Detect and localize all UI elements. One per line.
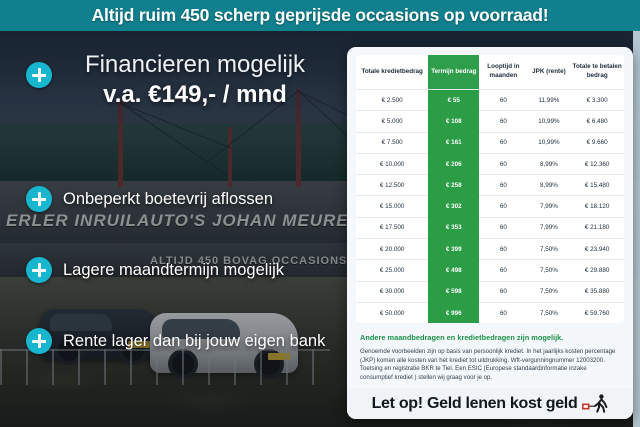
cell-krediet: € 20.000 (356, 239, 428, 260)
header-termijn: Termijn bedrag (428, 55, 479, 90)
cell-krediet: € 15.000 (356, 196, 428, 217)
cell-totaal: € 23.940 (570, 239, 624, 260)
table-row: € 50.000€ 996607,50%€ 59.760 (356, 302, 624, 323)
left-content-column: Financieren mogelijk v.a. €149,- / mnd O… (0, 31, 345, 427)
cell-jkp: 7,50% (528, 302, 571, 323)
cell-termijn: € 258 (428, 175, 479, 196)
cell-termijn: € 598 (428, 281, 479, 302)
cell-totaal: € 3.300 (570, 90, 624, 111)
cell-krediet: € 30.000 (356, 281, 428, 302)
cell-krediet: € 50.000 (356, 302, 428, 323)
cell-looptijd: 60 (479, 132, 527, 153)
cell-totaal: € 15.480 (570, 175, 624, 196)
cell-termijn: € 206 (428, 153, 479, 174)
cell-jkp: 7,99% (528, 196, 571, 217)
disclaimer-title: Andere maandbedragen en kredietbedragen … (360, 333, 620, 343)
headline-line-1: Financieren mogelijk (26, 50, 338, 80)
cell-jkp: 7,99% (528, 217, 571, 238)
cell-termijn: € 161 (428, 132, 479, 153)
cell-looptijd: 60 (479, 90, 527, 111)
cell-looptijd: 60 (479, 217, 527, 238)
benefit-item-1: Onbeperkt boetevrij aflossen (26, 185, 338, 213)
cell-totaal: € 29.880 (570, 260, 624, 281)
credit-table-body: € 2.500€ 556011,99%€ 3.300€ 5.000€ 10860… (356, 90, 624, 324)
credit-table: Totale kredietbedrag Termijn bedrag Loop… (356, 55, 624, 323)
credit-table-header-row: Totale kredietbedrag Termijn bedrag Loop… (356, 55, 624, 90)
cell-termijn: € 55 (428, 90, 479, 111)
benefit-item-3: Rente lager dan bij jouw eigen bank (26, 327, 338, 355)
credit-info-card: Totale kredietbedrag Termijn bedrag Loop… (347, 47, 633, 419)
top-banner-text: Altijd ruim 450 scherp geprijsde occasio… (92, 5, 549, 26)
cell-looptijd: 60 (479, 153, 527, 174)
header-totaal: Totale te betalen bedrag (570, 55, 624, 90)
cell-looptijd: 60 (479, 302, 527, 323)
table-row: € 7.500€ 1616010,99%€ 9.660 (356, 132, 624, 153)
cell-totaal: € 18.120 (570, 196, 624, 217)
cell-krediet: € 5.000 (356, 111, 428, 132)
cell-krediet: € 10.000 (356, 153, 428, 174)
cell-jkp: 11,99% (528, 90, 571, 111)
cell-looptijd: 60 (479, 111, 527, 132)
cell-looptijd: 60 (479, 239, 527, 260)
cell-termijn: € 302 (428, 196, 479, 217)
cell-looptijd: 60 (479, 175, 527, 196)
plus-icon (26, 257, 52, 283)
cell-totaal: € 6.480 (570, 111, 624, 132)
benefit-item-3-label: Rente lager dan bij jouw eigen bank (63, 327, 325, 355)
cell-totaal: € 35.880 (570, 281, 624, 302)
table-row: € 25.000€ 498607,50%€ 29.880 (356, 260, 624, 281)
cell-termijn: € 996 (428, 302, 479, 323)
right-edge-strip (633, 31, 640, 427)
header-jkp: JPK (rente) (528, 55, 571, 90)
plus-icon (26, 186, 52, 212)
disclaimer-body: Genoemde voorbeelden zijn op basis van p… (360, 348, 620, 382)
cell-jkp: 8,99% (528, 153, 571, 174)
credit-table-head: Totale kredietbedrag Termijn bedrag Loop… (356, 55, 624, 90)
cell-krediet: € 12.500 (356, 175, 428, 196)
table-row: € 2.500€ 556011,99%€ 3.300 (356, 90, 624, 111)
table-row: € 20.000€ 399607,50%€ 23.940 (356, 239, 624, 260)
benefit-item-2-label: Lagere maandtermijn mogelijk (63, 256, 284, 284)
cell-termijn: € 353 (428, 217, 479, 238)
cell-termijn: € 399 (428, 239, 479, 260)
headline: Financieren mogelijk v.a. €149,- / mnd (26, 50, 338, 110)
cell-jkp: 10,99% (528, 132, 571, 153)
table-row: € 15.000€ 302607,99%€ 18.120 (356, 196, 624, 217)
table-row: € 17.500€ 353607,99%€ 21.180 (356, 217, 624, 238)
table-row: € 10.000€ 206608,99%€ 12.360 (356, 153, 624, 174)
header-looptijd: Looptijd in maanden (479, 55, 527, 90)
cell-totaal: € 21.180 (570, 217, 624, 238)
cell-totaal: € 59.760 (570, 302, 624, 323)
money-warning-text: Let op! Geld lenen kost geld (372, 395, 578, 413)
plus-icon (26, 328, 52, 354)
benefit-item-1-label: Onbeperkt boetevrij aflossen (63, 185, 273, 213)
cell-jkp: 7,50% (528, 239, 571, 260)
top-banner: Altijd ruim 450 scherp geprijsde occasio… (0, 0, 640, 31)
money-warning-bar: Let op! Geld lenen kost geld (347, 388, 633, 419)
cell-krediet: € 7.500 (356, 132, 428, 153)
afm-money-warning-icon (582, 394, 608, 413)
cell-looptijd: 60 (479, 196, 527, 217)
cell-jkp: 7,50% (528, 260, 571, 281)
cell-totaal: € 9.660 (570, 132, 624, 153)
cell-looptijd: 60 (479, 260, 527, 281)
credit-table-wrapper: Totale kredietbedrag Termijn bedrag Loop… (356, 55, 624, 323)
cell-krediet: € 17.500 (356, 217, 428, 238)
cell-jkp: 10,99% (528, 111, 571, 132)
benefit-item-2: Lagere maandtermijn mogelijk (26, 256, 338, 284)
promo-banner-image: ERLER INRUILAUTO'S JOHAN MEURE ALTIJD 45… (0, 0, 640, 427)
table-row: € 12.500€ 258608,99%€ 15.480 (356, 175, 624, 196)
cell-termijn: € 498 (428, 260, 479, 281)
headline-line-2: v.a. €149,- / mnd (26, 80, 338, 110)
cell-jkp: 8,99% (528, 175, 571, 196)
cell-krediet: € 2.500 (356, 90, 428, 111)
table-row: € 30.000€ 598607,50%€ 35.880 (356, 281, 624, 302)
cell-totaal: € 12.360 (570, 153, 624, 174)
cell-krediet: € 25.000 (356, 260, 428, 281)
cell-termijn: € 108 (428, 111, 479, 132)
table-row: € 5.000€ 1086010,99%€ 6.480 (356, 111, 624, 132)
header-krediet: Totale kredietbedrag (356, 55, 428, 90)
cell-looptijd: 60 (479, 281, 527, 302)
cell-jkp: 7,50% (528, 281, 571, 302)
